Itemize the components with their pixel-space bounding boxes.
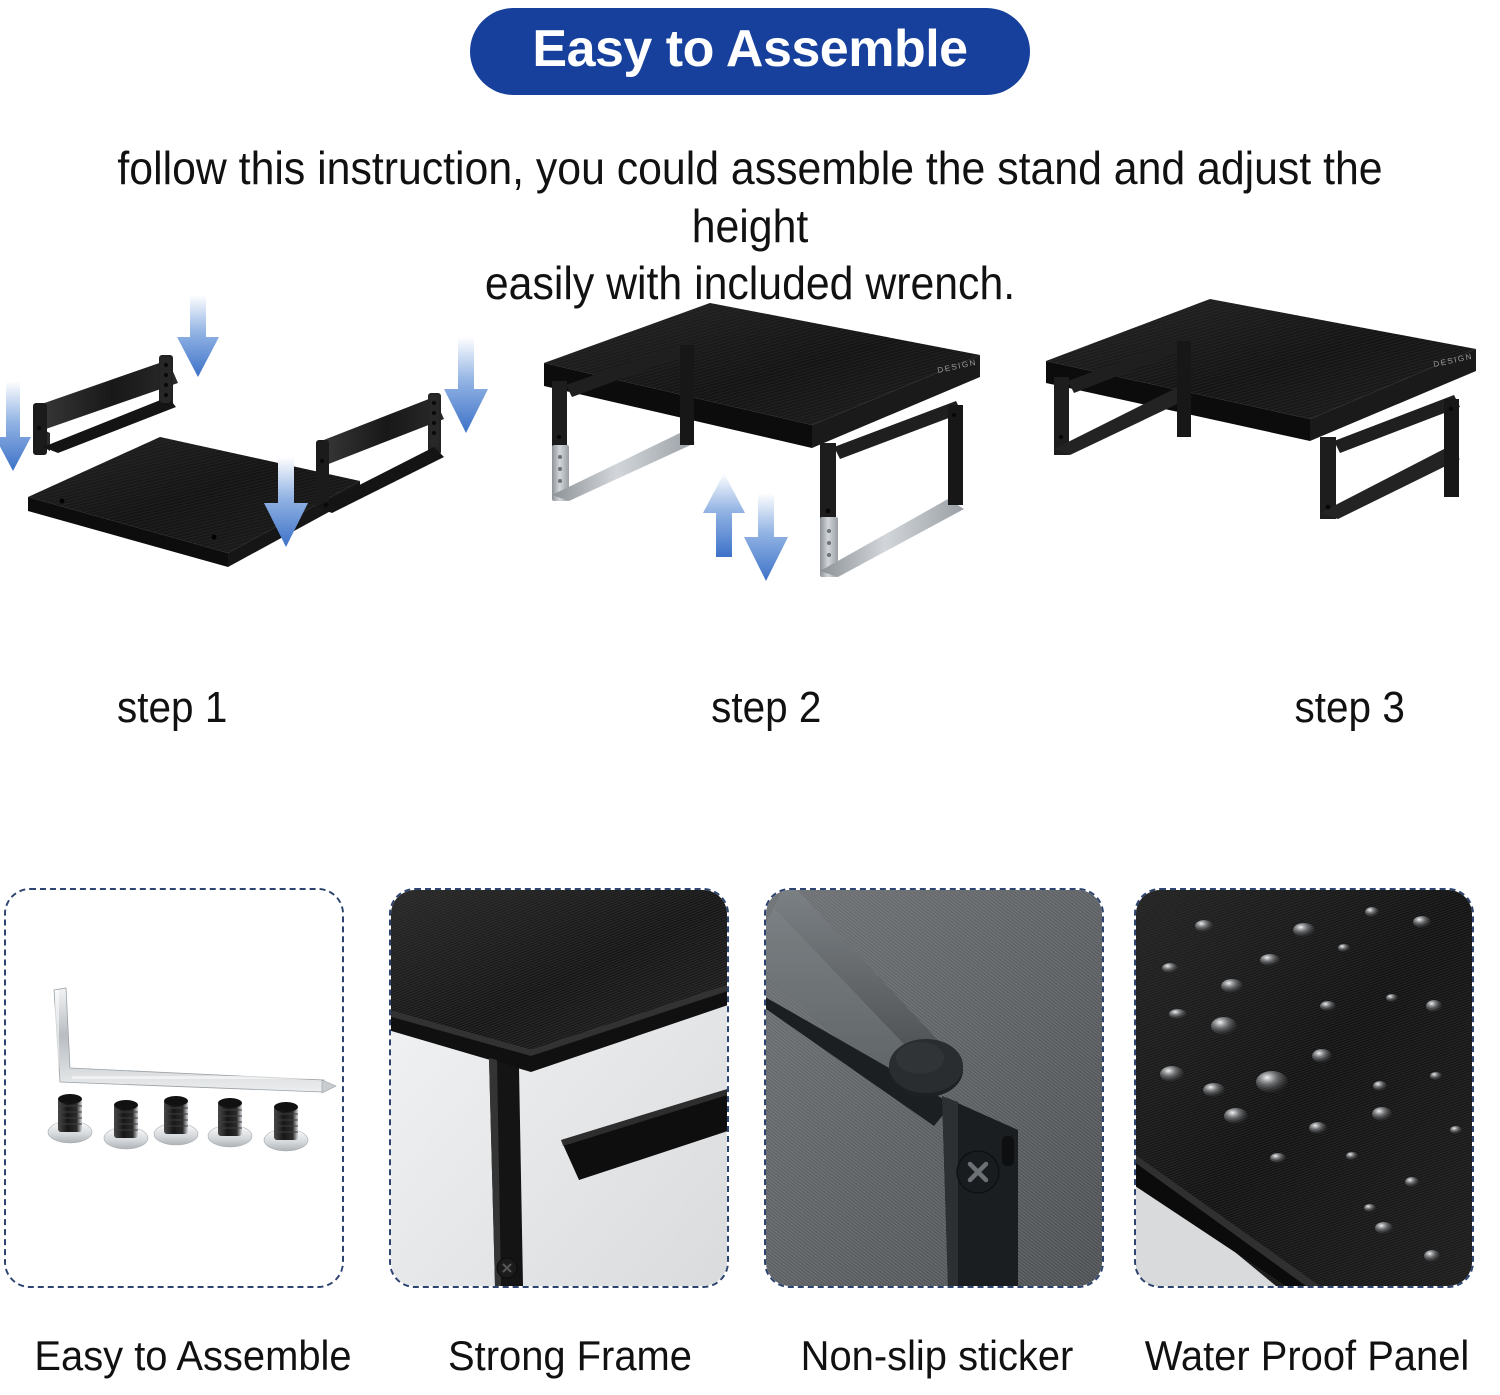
- header-badge-row: Easy to Assemble: [0, 8, 1500, 95]
- non-slip-sticker-image: [766, 890, 1102, 1286]
- step-1-label: step 1: [20, 683, 489, 733]
- step-2-arrow-down: [744, 493, 788, 581]
- step-2-illustration: DESIGN: [520, 285, 1020, 685]
- caption-easy-to-assemble: Easy to Assemble: [17, 1332, 369, 1380]
- feature-panels: [0, 888, 1500, 1292]
- step-3: DESIGN step 3: [1020, 285, 1500, 745]
- step-3-label: step 3: [1039, 683, 1481, 733]
- caption-non-slip-sticker: Non-slip sticker: [761, 1332, 1113, 1380]
- step-1: step 1: [0, 285, 510, 745]
- feature-panel-strong-frame: [389, 888, 729, 1288]
- step-3-illustration: DESIGN: [1020, 285, 1500, 685]
- step-2-arrow-up: [703, 473, 745, 557]
- step-1-illustration: [0, 285, 510, 685]
- assembly-steps: step 1: [0, 285, 1500, 745]
- feature-captions: Easy to Assemble Strong Frame Non-slip s…: [0, 1332, 1500, 1392]
- header-badge: Easy to Assemble: [470, 8, 1029, 95]
- feature-panel-non-slip-sticker: [764, 888, 1104, 1288]
- wrench-and-screws-image: [6, 890, 342, 1286]
- step-1-panel: [28, 437, 360, 567]
- caption-strong-frame: Strong Frame: [394, 1332, 746, 1380]
- step-2-svg: DESIGN: [520, 285, 1020, 685]
- caption-water-proof-panel: Water Proof Panel: [1131, 1332, 1483, 1380]
- step-3-svg: DESIGN: [1020, 285, 1500, 685]
- water-proof-panel-image: [1136, 890, 1472, 1286]
- subtitle-line-1: follow this instruction, you could assem…: [99, 140, 1401, 255]
- step-1-svg: [0, 285, 510, 685]
- strong-frame-image: [391, 890, 727, 1286]
- feature-panel-easy-to-assemble: [4, 888, 344, 1288]
- step-2: DESIGN: [520, 285, 1020, 745]
- step-1-arrow-top: [177, 295, 219, 377]
- step-1-arrow-right: [444, 337, 488, 433]
- feature-panel-water-proof: [1134, 888, 1474, 1288]
- step-2-label: step 2: [540, 683, 1000, 733]
- step-1-arrow-far-left: [0, 381, 31, 471]
